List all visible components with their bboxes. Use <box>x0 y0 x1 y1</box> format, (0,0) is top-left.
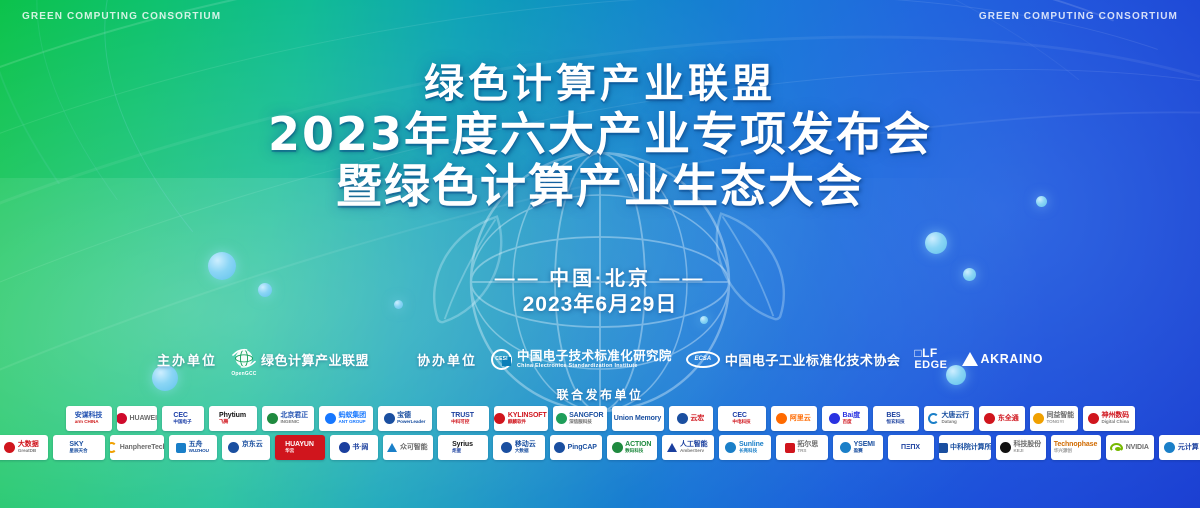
partner-logo-subtitle: TRS <box>797 449 806 454</box>
partner-logo-chip[interactable]: CEC中电科技 <box>718 406 766 431</box>
lfedge-top: □LF <box>914 347 947 359</box>
corner-wordmark-left: GREEN COMPUTING CONSORTIUM <box>22 11 221 22</box>
coorganizer-label: 协办单位 <box>417 350 477 369</box>
pingcap-icon <box>554 442 565 453</box>
sunline-icon <box>725 442 736 453</box>
partner-logo-chip[interactable]: 阿里云 <box>771 406 817 431</box>
partner-logo-chip[interactable]: 京东云JD.COM <box>222 435 270 460</box>
winhong-icon <box>677 413 688 424</box>
lf-edge-icon: □LF EDGE <box>914 347 947 370</box>
partner-logo-chip[interactable]: YSEMI盈赛 <box>833 435 883 460</box>
partner-logo-subtitle: ANT GROUP <box>338 420 365 425</box>
cesi-badge-text: CESI <box>495 356 507 362</box>
akraino-triangle-icon <box>962 352 978 366</box>
partner-logo-chip[interactable]: Bai度百度 <box>822 406 868 431</box>
action-icon <box>612 442 623 453</box>
partner-logo-name: NVIDIA <box>1126 444 1149 451</box>
partner-logo-subtitle: arm CHINA <box>75 420 99 425</box>
partner-logo-chip[interactable]: Phytium飞腾 <box>209 406 257 431</box>
partner-logo-subtitle: 中国电子 <box>173 420 191 425</box>
dongquan-icon <box>984 413 995 424</box>
partner-logo-chip[interactable]: HUAWEI <box>117 406 157 431</box>
partner-logo-name: 元计算 <box>1178 444 1199 451</box>
ecsa-badge-text: ECSA <box>694 356 711 362</box>
coorganizer-akraino: AKRAINO <box>962 352 1044 366</box>
host-mark-subtext: OpenGCC <box>231 371 257 377</box>
partner-logo-subtitle: Datang <box>941 420 956 425</box>
partner-logo-name: 中科院计算所 <box>950 444 990 451</box>
partner-logo-subtitle: 长亮科技 <box>739 449 757 454</box>
partner-logo-subtitle: 百度 <box>843 420 852 425</box>
partner-logo-chip[interactable]: 宝德PowerLeader <box>378 406 432 431</box>
partner-logo-subtitle: 盈赛 <box>854 449 863 454</box>
partner-logo-name: 东全通 <box>998 415 1019 422</box>
sun-burst-icon <box>1033 413 1044 424</box>
partner-logo-subtitle: JD.COM <box>242 449 260 454</box>
partner-logo-chip[interactable]: 科技股份KEJI <box>996 435 1046 460</box>
event-location: —— 中国·北京 —— <box>0 262 1200 291</box>
organizer-strip: 主办单位 OpenGCC 绿色计算产业联盟 协办单位 <box>0 347 1200 371</box>
powerleader-icon <box>384 413 395 424</box>
ant-circle-icon <box>325 413 336 424</box>
wuzhou-grid-icon <box>176 443 186 453</box>
partner-logo-chip[interactable]: 北京君正INGENIC <box>262 406 314 431</box>
corner-wordmark-right: GREEN COMPUTING CONSORTIUM <box>979 11 1178 22</box>
ring-color-icon <box>110 442 118 453</box>
partner-logo-chip[interactable]: ACTION数码科技 <box>607 435 657 460</box>
shu-circle-icon <box>339 442 350 453</box>
partner-logo-subtitle: 数码科技 <box>625 449 643 454</box>
yuan-icon <box>1164 442 1175 453</box>
partner-logo-chip[interactable]: 安谋科技arm CHINA <box>66 406 112 431</box>
partner-logo-chip[interactable]: 移动云大数据 <box>493 435 545 460</box>
kylin-k-icon <box>494 413 505 424</box>
yidong-oval-icon <box>501 442 512 453</box>
partner-logo-grid: 安谋科技arm CHINAHUAWEICEC中国电子Phytium飞腾北京君正I… <box>0 406 1200 464</box>
nvidia-eye-icon <box>1110 443 1123 452</box>
ingenic-mark-icon <box>267 413 278 424</box>
partner-logo-subtitle: 飞腾 <box>219 420 228 425</box>
globe-leaf-icon: OpenGCC <box>231 347 257 371</box>
partner-logo-name: HUAWEI <box>130 415 157 422</box>
baidu-paw-icon <box>829 413 840 424</box>
partner-logo-subtitle: 炬星 <box>452 449 461 454</box>
poster-title-block: 绿色计算产业联盟 2023年度六大产业专项发布会 暨绿色计算产业生态大会 <box>0 62 1200 212</box>
event-poster: GREEN COMPUTING CONSORTIUM GREEN COMPUTI… <box>0 0 1200 508</box>
partner-logo-chip[interactable]: 大数据GreatDB <box>0 435 48 460</box>
partner-logo-subtitle: 中科可控 <box>451 420 469 425</box>
partner-logo-chip[interactable]: 大唐云行Datang <box>924 406 974 431</box>
coorganizer-cesi: CESI 中国电子技术标准化研究院 China Electronics Stan… <box>491 349 672 370</box>
cesi-name-en: China Electronics Standardization Instit… <box>517 363 672 369</box>
partner-logo-subtitle: KEJI <box>1013 449 1023 454</box>
partner-logo-chip[interactable]: HanphereTech <box>110 435 164 460</box>
partner-logo-chip[interactable]: SANGFOR深信服科技 <box>553 406 607 431</box>
partner-logo-chip[interactable]: 五舟WUZHOU <box>169 435 217 460</box>
trs-hex-icon <box>785 443 795 453</box>
partner-logo-subtitle: 大数据 <box>515 449 529 454</box>
mountain-icon <box>387 443 397 452</box>
partner-logo-chip[interactable]: CEC中国电子 <box>162 406 204 431</box>
partner-logo-subtitle: 星辰天合 <box>69 449 87 454</box>
partner-logo-row: 安谋科技arm CHINAHUAWEICEC中国电子Phytium飞腾北京君正I… <box>0 406 1200 431</box>
partner-logo-subtitle: WUZHOU <box>189 449 209 454</box>
partner-logo-subtitle: PowerLeader <box>397 420 425 425</box>
partner-logo-row: 大数据GreatDBSKY星辰天合HanphereTech五舟WUZHOU京东云… <box>0 435 1200 460</box>
partner-logo-name: Union Memory <box>614 415 661 422</box>
host-organization: OpenGCC 绿色计算产业联盟 <box>231 347 369 371</box>
title-line-3: 暨绿色计算产业生态大会 <box>0 160 1200 212</box>
partner-logo-subtitle: 麒麟软件 <box>508 420 526 425</box>
triangle-icon <box>667 443 677 452</box>
partner-logo-subtitle: TONGYI <box>1046 420 1063 425</box>
partner-logo-chip[interactable]: NVIDIA <box>1106 435 1154 460</box>
partner-logo-subtitle: 深信服科技 <box>569 420 592 425</box>
ecsa-oval-icon: ECSA <box>686 351 720 368</box>
partner-logo-subtitle: 中电科技 <box>732 420 750 425</box>
partner-logo-chip[interactable]: 中科院计算所 <box>939 435 991 460</box>
partner-logo-subtitle: 恒玄科技 <box>886 420 904 425</box>
lfedge-bottom: EDGE <box>914 360 947 371</box>
datang-c-icon <box>928 413 939 424</box>
partner-logo-chip[interactable]: 书·阔 <box>330 435 378 460</box>
host-name: 绿色计算产业联盟 <box>261 350 369 369</box>
title-line-2: 2023年度六大产业专项发布会 <box>0 108 1200 160</box>
partner-logo-name: 众可智能 <box>400 444 428 451</box>
partner-logo-name: 书·阔 <box>352 444 368 451</box>
ecsa-name-cn: 中国电子工业标准化技术协会 <box>725 350 901 369</box>
coorganizer-ecsa: ECSA 中国电子工业标准化技术协会 <box>686 350 901 369</box>
partner-logo-name: PingCAP <box>568 444 597 451</box>
coorganizer-lfedge: □LF EDGE <box>914 347 947 370</box>
akraino-name: AKRAINO <box>981 352 1044 366</box>
partner-logo-subtitle: Digital China <box>1101 420 1128 425</box>
partner-logo-chip[interactable]: 同益智能TONGYI <box>1030 406 1078 431</box>
k-mark-icon <box>1000 442 1011 453</box>
joint-release-label: 联合发布单位 <box>0 386 1200 403</box>
partner-logo-subtitle: GreatDB <box>18 449 36 454</box>
bubble-decoration <box>925 232 947 254</box>
digitalchina-icon <box>1088 413 1099 424</box>
partner-logo-chip[interactable]: 人工智能AmberServ <box>662 435 714 460</box>
partner-logo-chip[interactable]: Union Memory <box>612 406 664 431</box>
partner-logo-subtitle: AmberServ <box>680 449 704 454</box>
partner-logo-subtitle: 华云 <box>285 449 294 454</box>
partner-logo-chip[interactable]: 拓尔思TRS <box>776 435 828 460</box>
partner-logo-chip[interactable]: 神州数码Digital China <box>1083 406 1135 431</box>
aliyun-bracket-icon <box>776 413 787 424</box>
cesi-circle-icon: CESI <box>491 349 512 370</box>
sangfor-leaf-icon <box>556 413 567 424</box>
partner-logo-chip[interactable]: Syrius炬星 <box>438 435 488 460</box>
partner-logo-name: HanphereTech <box>120 444 164 451</box>
greatdb-icon <box>4 442 15 453</box>
partner-logo-subtitle: INGENIC <box>280 420 299 425</box>
host-label: 主办单位 <box>157 350 217 369</box>
partner-logo-chip[interactable]: TRUST中科可控 <box>437 406 489 431</box>
title-line-1: 绿色计算产业联盟 <box>0 62 1200 108</box>
ysemi-icon <box>840 442 851 453</box>
partner-logo-chip[interactable]: SKY星辰天合 <box>53 435 105 460</box>
partner-logo-chip[interactable]: 元计算 <box>1159 435 1200 460</box>
partner-logo-name: 阿里云 <box>790 415 811 422</box>
partner-logo-chip[interactable]: KYLINSOFT麒麟软件 <box>494 406 548 431</box>
partner-logo-chip[interactable]: 众可智能 <box>383 435 433 460</box>
partner-logo-name: ΠΞΠX <box>901 444 920 451</box>
partner-logo-chip[interactable]: 东全通 <box>979 406 1025 431</box>
partner-logo-chip[interactable]: ΠΞΠX <box>888 435 934 460</box>
partner-logo-chip[interactable]: PingCAP <box>550 435 602 460</box>
ict-blocks-icon <box>939 443 948 453</box>
partner-logo-name: 云宏 <box>690 415 704 422</box>
jingo-icon <box>228 442 239 453</box>
partner-logo-chip[interactable]: Sunline长亮科技 <box>719 435 771 460</box>
cesi-name-cn: 中国电子技术标准化研究院 <box>517 349 672 363</box>
huawei-petal-icon <box>117 413 128 424</box>
partner-logo-chip[interactable]: BES恒玄科技 <box>873 406 919 431</box>
partner-logo-chip[interactable]: 蚂蚁集团ANT GROUP <box>319 406 373 431</box>
partner-logo-chip[interactable]: HUAYUN华云 <box>275 435 325 460</box>
partner-logo-subtitle: 华兴源创 <box>1054 449 1072 454</box>
partner-logo-chip[interactable]: 云宏 <box>669 406 713 431</box>
partner-logo-chip[interactable]: Technophase华兴源创 <box>1051 435 1101 460</box>
event-date: 2023年6月29日 <box>0 288 1200 318</box>
